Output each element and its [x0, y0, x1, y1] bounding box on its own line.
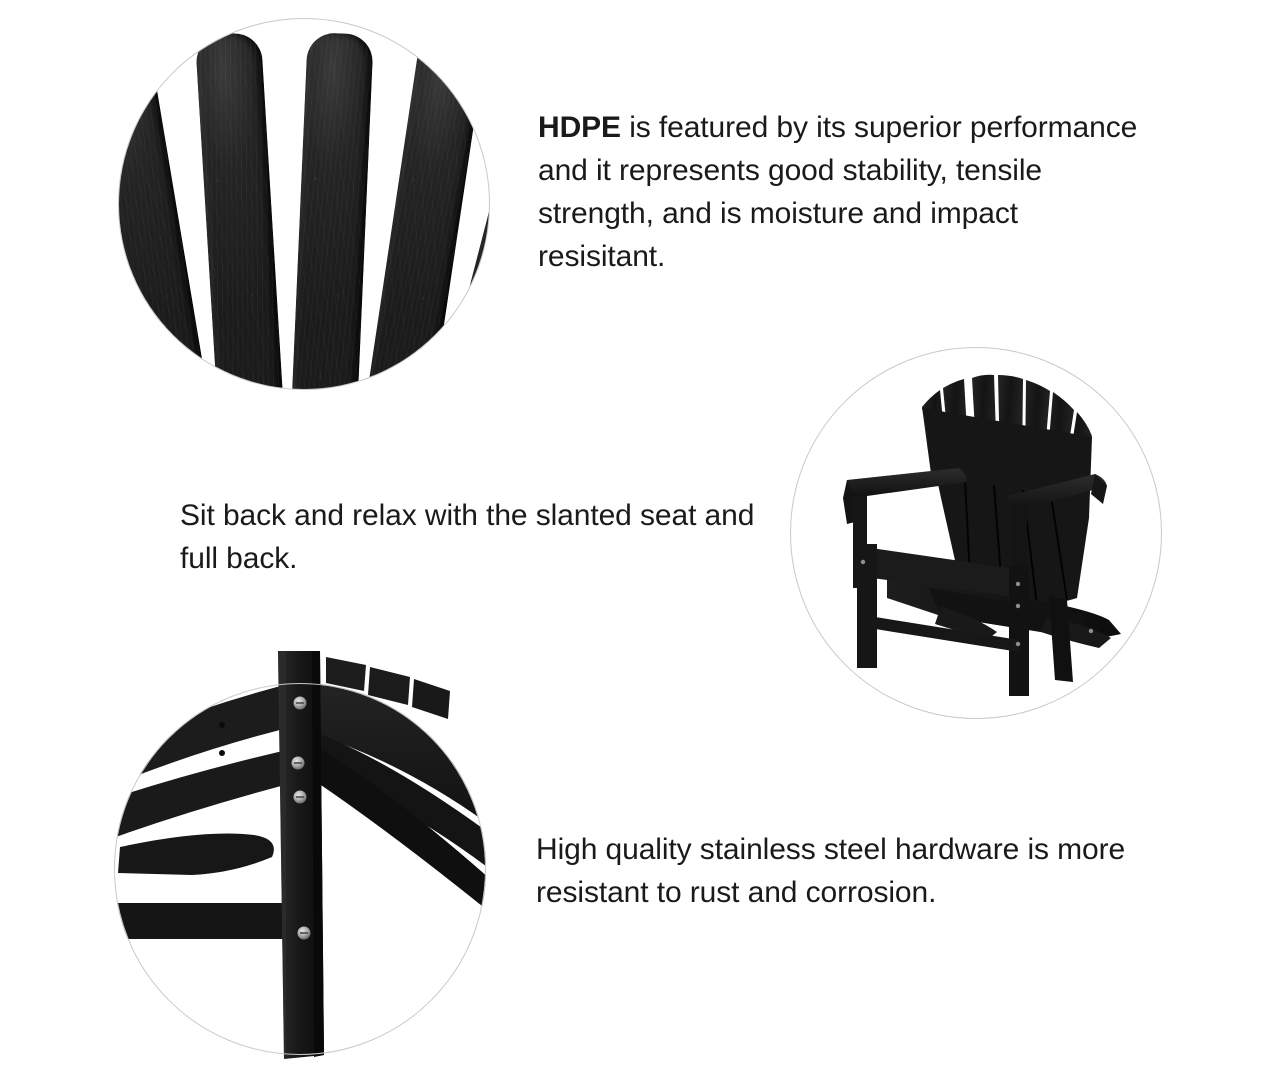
feature-text-stainless-hardware: High quality stainless steel hardware is… — [536, 828, 1186, 914]
chair-photo-clip — [791, 348, 1161, 718]
vertical-leg-post — [278, 651, 324, 1059]
seat-scoop-taper — [118, 834, 274, 876]
chair-back-slat — [195, 32, 287, 389]
screw-recess — [219, 750, 225, 756]
slat-screw — [193, 365, 197, 369]
product-feature-infographic: HDPE is featured by its superior perform… — [0, 0, 1280, 1074]
slat-screw — [267, 385, 271, 389]
chair-back-slat — [289, 32, 374, 389]
slats-photo-clip — [119, 19, 489, 389]
seat-slat-mid-left — [104, 747, 300, 839]
feature-lead-hdpe: HDPE — [538, 111, 621, 144]
hardware-detail-illustration — [104, 651, 508, 1071]
adirondack-chair-illustration — [791, 348, 1161, 718]
slats-composition — [119, 19, 489, 389]
feature-text-hdpe: HDPE is featured by its superior perform… — [538, 106, 1148, 278]
screw-recess — [219, 722, 225, 728]
chair-leg-front-left — [857, 544, 877, 668]
feature-body-hdpe: is featured by its superior performance … — [538, 111, 1137, 273]
image-full-adirondack-chair — [790, 347, 1162, 719]
image-chair-back-slats-closeup — [118, 18, 490, 390]
feature-text-slanted-seat: Sit back and relax with the slanted seat… — [180, 494, 760, 580]
slat-screw — [413, 383, 417, 387]
lower-stretcher — [104, 903, 304, 939]
image-stainless-steel-hardware-closeup — [114, 683, 486, 1055]
